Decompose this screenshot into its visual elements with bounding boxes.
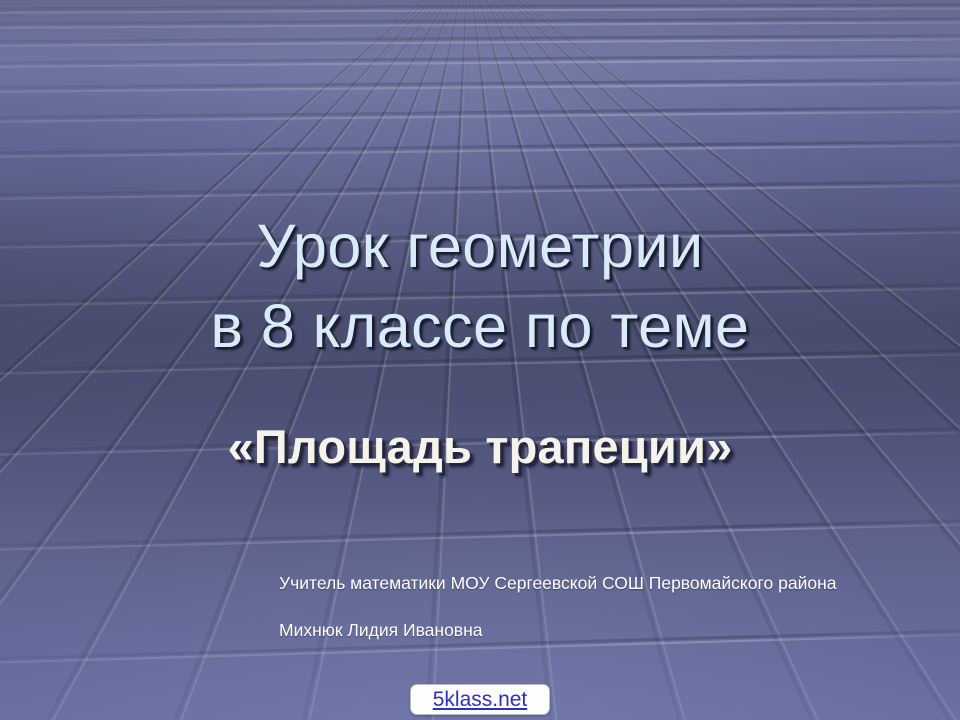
slide-title-line-2: в 8 классе по теме <box>0 286 960 366</box>
presentation-slide: Урок геометрии в 8 классе по теме «Площа… <box>0 0 960 720</box>
slide-content: Урок геометрии в 8 классе по теме «Площа… <box>0 0 960 720</box>
slide-subtitle: «Площадь трапеции» <box>0 416 960 478</box>
slide-title-line-1: Урок геометрии <box>0 206 960 286</box>
watermark-link[interactable]: 5klass.net <box>433 689 528 710</box>
author-name: Михнюк Лидия Ивановна <box>279 618 839 642</box>
author-affiliation: Учитель математики МОУ Сергеевской СОШ П… <box>279 571 839 595</box>
slide-author-block: Учитель математики МОУ Сергеевской СОШ П… <box>279 571 839 642</box>
slide-title: Урок геометрии в 8 классе по теме <box>0 206 960 366</box>
watermark-badge[interactable]: 5klass.net <box>410 684 550 715</box>
